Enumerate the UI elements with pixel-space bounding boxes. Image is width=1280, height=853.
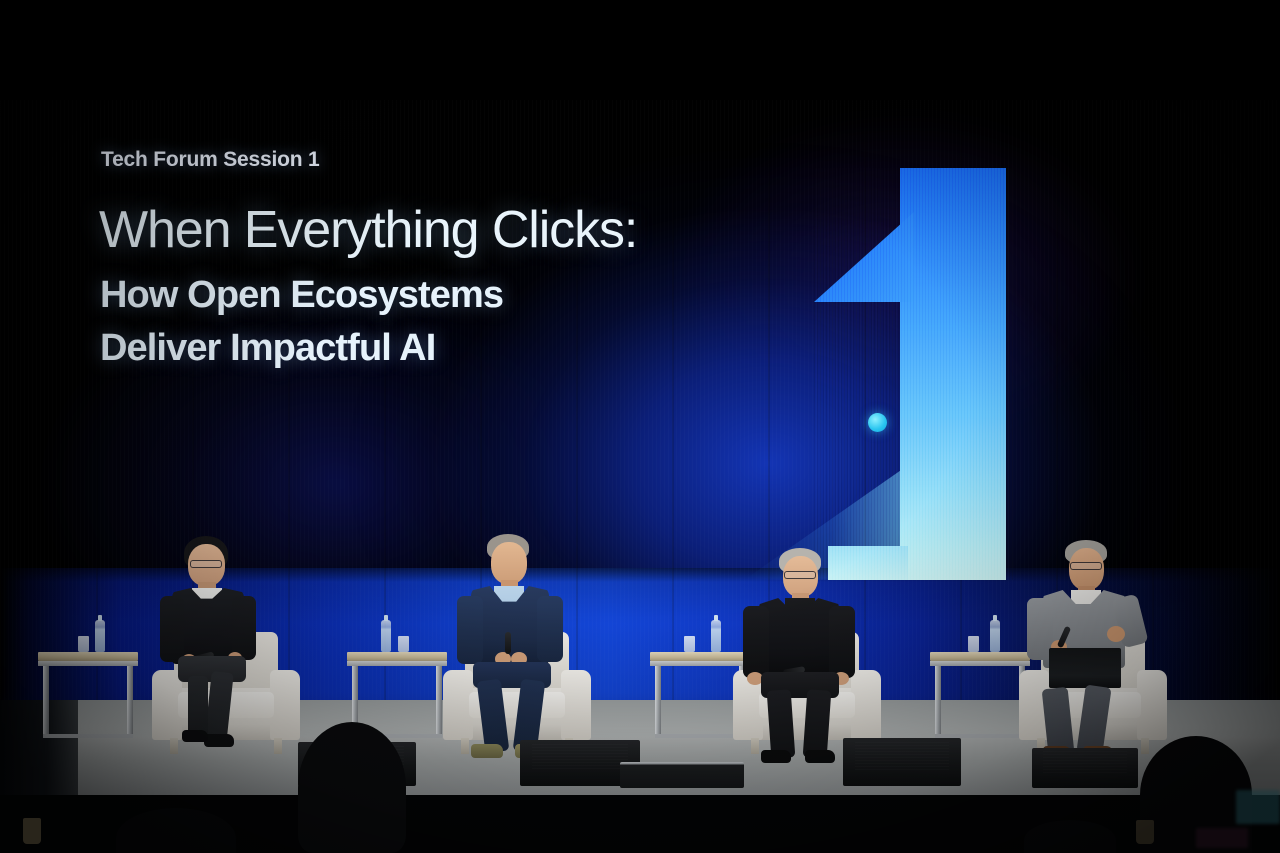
slide-headline: When Everything Clicks: [99, 200, 637, 260]
panelist-2-head [491, 542, 527, 584]
panelist-1-shoe-back [182, 730, 208, 742]
stage-rack-unit [620, 762, 744, 788]
panelist-1-leg-back [188, 676, 208, 738]
table-rail [655, 734, 745, 738]
panelist-3-leg-left [767, 689, 796, 759]
panelist-4 [1019, 540, 1185, 760]
session-number-graphic [814, 168, 1014, 580]
cyan-accent-dot [868, 413, 887, 432]
panelist-4-leg-right [1076, 685, 1111, 756]
panelist-2-microphone [505, 632, 511, 654]
slide-subtitle-line2: Deliver Impactful AI [100, 327, 435, 370]
drinking-glass-4 [968, 636, 979, 652]
audience-silhouette-2 [298, 722, 406, 853]
panelist-4-hand-gesturing [1107, 626, 1125, 642]
panelist-4-leg-left [1042, 687, 1075, 755]
slide-subtitle-line1: How Open Ecosystems [100, 274, 503, 317]
panelist-3-eyeglasses [784, 571, 816, 579]
device-screen-glow-1 [1236, 790, 1280, 824]
side-table-4 [930, 652, 1030, 744]
table-top [347, 652, 447, 661]
panelist-4-laptop [1049, 648, 1121, 688]
side-table-1 [38, 652, 138, 744]
table-edge [347, 661, 447, 666]
panelist-1-arm-right [232, 596, 256, 660]
panelist-3-arm-right [829, 606, 855, 678]
panelist-3-shoe-left [761, 750, 791, 763]
panelist-2-arm-right [537, 596, 563, 662]
stage-monitor-wedge-4 [1032, 748, 1138, 788]
audience-cup-2 [1136, 820, 1154, 844]
slide-eyebrow: Tech Forum Session 1 [101, 148, 320, 172]
table-top [930, 652, 1030, 661]
drinking-glass-2 [398, 636, 409, 652]
drinking-glass-1 [78, 636, 89, 652]
table-edge [38, 661, 138, 666]
panelist-3-shoe-right [805, 750, 835, 763]
water-bottle-3 [711, 620, 721, 652]
table-rail [43, 734, 133, 738]
panelist-1 [152, 536, 312, 756]
panelist-2-sneaker-left [471, 744, 503, 758]
stage-monitor-wedge-3 [843, 738, 961, 786]
water-bottle-4 [990, 620, 1000, 652]
panelist-1-eyeglasses [190, 560, 222, 568]
audience-cup [23, 818, 41, 844]
stage-photo: Tech Forum Session 1 When Everything Cli… [0, 0, 1280, 853]
panelist-2-arm-left [457, 596, 483, 664]
table-edge [930, 661, 1030, 666]
numeral-led-texture [814, 168, 1014, 580]
drinking-glass-3 [684, 636, 695, 652]
table-leg [127, 666, 133, 738]
panelist-1-shoe-front [204, 734, 234, 747]
panelist-4-eyeglasses [1070, 562, 1102, 570]
table-leg [43, 666, 49, 738]
audience-silhouette-4 [1024, 820, 1116, 853]
table-top [38, 652, 138, 661]
table-leg [655, 666, 661, 738]
panelist-1-arm-left [160, 596, 184, 662]
water-bottle-2 [381, 620, 391, 652]
panelist-3-leg-right [803, 689, 832, 759]
panelist-3 [733, 548, 897, 764]
panelist-2 [443, 534, 613, 760]
device-screen-glow-2 [1196, 828, 1248, 848]
water-bottle-1 [95, 620, 105, 652]
panelist-3-arm-left [743, 606, 769, 678]
table-leg [935, 666, 941, 738]
panelist-2-leg-left [477, 679, 510, 753]
table-leg [436, 666, 442, 738]
